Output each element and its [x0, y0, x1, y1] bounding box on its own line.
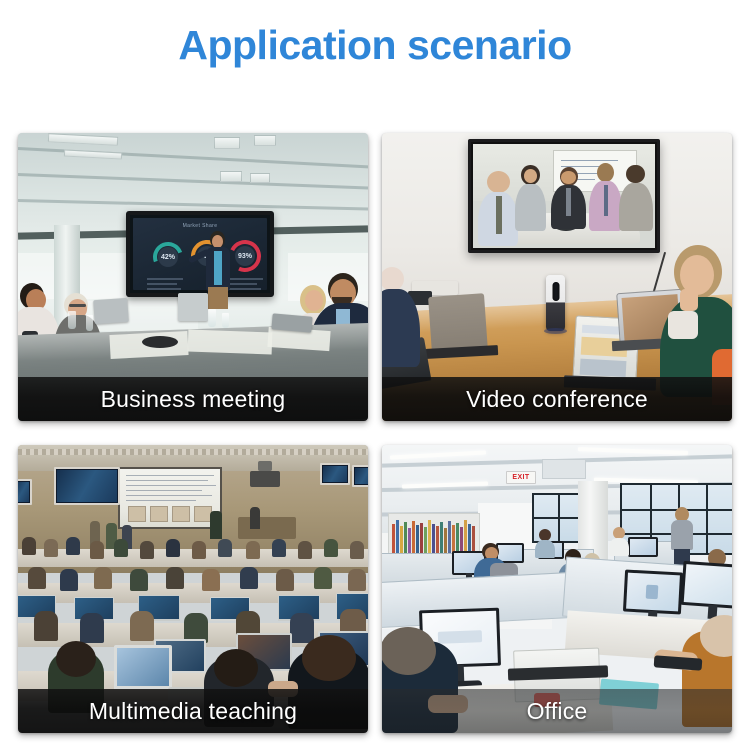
slide-text-line [147, 288, 181, 290]
remote-participant [589, 163, 622, 232]
participant-head [626, 165, 645, 184]
screen-text-line [126, 500, 196, 501]
office-worker [610, 527, 628, 553]
document [188, 330, 273, 355]
water-glass [222, 313, 229, 328]
student-head [56, 641, 96, 677]
panel-caption-multimedia-teaching: Multimedia teaching [18, 689, 368, 733]
book [412, 521, 415, 554]
participant-tie [496, 196, 502, 233]
worker-body [671, 520, 693, 550]
student [140, 541, 154, 559]
participant-sleeve [668, 311, 698, 339]
worker-body [535, 540, 555, 558]
screen-text-line [126, 490, 202, 491]
monitor-content [323, 466, 347, 482]
slide-text-line [229, 288, 261, 290]
book [456, 523, 459, 554]
monitor [681, 561, 732, 609]
caption-text: Video conference [466, 386, 648, 413]
screen-text-line [126, 480, 208, 481]
water-glass [68, 311, 76, 329]
student [246, 541, 260, 559]
student [314, 567, 332, 589]
bookshelf [388, 513, 480, 555]
camera-base [544, 328, 567, 334]
office-worker [536, 529, 554, 555]
screen-text-line [126, 495, 212, 496]
ceiling-light [254, 135, 276, 146]
laptop [178, 293, 208, 321]
participant-body [515, 184, 546, 231]
student-head [302, 635, 356, 681]
monitor [628, 537, 658, 557]
book [440, 522, 443, 554]
scenario-panel-video-conference[interactable]: Video conference [382, 133, 732, 421]
presenter-shirt [214, 251, 222, 285]
ceiling-monitor [18, 479, 32, 505]
instructor [250, 507, 260, 529]
student [218, 539, 232, 557]
lectern [238, 517, 296, 539]
laptop [93, 298, 129, 324]
remote-participant [551, 167, 586, 229]
student [66, 537, 80, 555]
monitor-screen [630, 539, 656, 555]
wall-mounted-tv [468, 139, 660, 253]
student [22, 537, 36, 555]
student [192, 541, 206, 559]
scenario-panel-grid: Market Share 42% 79% 93% [18, 133, 732, 733]
student [298, 541, 312, 559]
ceiling-monitor [54, 467, 120, 505]
student [202, 569, 220, 591]
participant-body [382, 289, 420, 367]
projection-screen [118, 467, 222, 529]
screen-thumbnail [172, 506, 190, 522]
slide-text-line [147, 278, 183, 280]
book [428, 520, 431, 554]
caption-text: Multimedia teaching [89, 698, 297, 725]
participant-hand [680, 289, 698, 311]
metric-value-3: 93% [235, 246, 255, 266]
student [272, 539, 286, 557]
standing-worker [670, 507, 694, 569]
scenario-panel-office[interactable]: EXIT [382, 445, 732, 733]
student [114, 539, 128, 557]
book [444, 528, 447, 554]
worker-body [609, 538, 629, 556]
metric-value-1: 42% [158, 247, 178, 267]
book [424, 527, 427, 554]
tv-screen [473, 144, 655, 248]
book [460, 527, 463, 554]
attendee-glasses [69, 304, 86, 307]
slide-text-line [147, 283, 177, 285]
window-mullion [706, 485, 708, 553]
book [396, 520, 399, 554]
book [392, 524, 395, 554]
screen-text-line [126, 475, 214, 476]
student [130, 611, 154, 641]
student [94, 567, 112, 589]
laptop-screen [117, 648, 169, 686]
ceiling-monitor [352, 465, 368, 487]
student-head [214, 649, 258, 687]
book [420, 523, 423, 554]
student [166, 567, 184, 589]
book [404, 522, 407, 554]
scenario-panel-business-meeting[interactable]: Market Share 42% 79% 93% [18, 133, 368, 421]
laptop-screen-content [580, 359, 627, 377]
caption-text: Office [527, 698, 588, 725]
participant-body [619, 183, 654, 232]
student [240, 567, 258, 589]
book [472, 526, 475, 554]
student [350, 541, 364, 559]
student [60, 569, 78, 591]
screen-content-icon [646, 585, 659, 600]
participant-head [487, 171, 510, 193]
instructor [210, 511, 222, 539]
participant-head [382, 267, 404, 291]
monitor-screen [684, 564, 732, 606]
slide-text-line [229, 278, 263, 280]
participant-tie [566, 188, 570, 215]
student [44, 539, 58, 557]
application-scenario-page: Application scenario [0, 0, 750, 750]
student [324, 539, 338, 557]
keyboard [654, 655, 703, 670]
conference-camera[interactable] [546, 275, 565, 331]
book [468, 524, 471, 554]
laptop [114, 645, 172, 689]
book [432, 524, 435, 554]
student [90, 541, 104, 559]
ceiling-projector [250, 471, 280, 487]
water-glass [86, 315, 93, 331]
monitor [623, 570, 683, 615]
water-glass [208, 309, 216, 327]
book [452, 525, 455, 554]
whiteboard-writing [561, 160, 618, 161]
projector-mount [258, 461, 272, 471]
remote-participant [619, 165, 654, 232]
remote-participant [478, 171, 518, 246]
screen-thumbnail [150, 506, 168, 522]
desk-phone [142, 336, 178, 348]
laptop [271, 313, 312, 332]
foreground-worker-head [382, 627, 436, 675]
monitor-content [18, 482, 29, 502]
panel-caption-office: Office [382, 689, 732, 733]
caption-text: Business meeting [101, 386, 286, 413]
book [400, 526, 403, 554]
student [290, 613, 314, 643]
participant-head [597, 163, 614, 182]
exit-sign-text: EXIT [512, 474, 529, 481]
student [166, 539, 180, 557]
student [348, 569, 366, 591]
ceiling-grid [18, 449, 368, 455]
student [130, 569, 148, 591]
panel-caption-video-conference: Video conference [382, 377, 732, 421]
slide-text-line [229, 283, 257, 285]
participant-tie [604, 185, 608, 217]
slide-title: Market Share [133, 223, 267, 229]
ceiling-light [214, 137, 240, 149]
student [276, 569, 294, 591]
page-title: Application scenario [0, 22, 750, 69]
ceiling-vent [542, 459, 586, 479]
screen-text-line [126, 485, 216, 486]
scenario-panel-multimedia-teaching[interactable]: Multimedia teaching [18, 445, 368, 733]
student [80, 613, 104, 643]
book [464, 520, 467, 554]
ceiling-monitor [320, 463, 350, 485]
panel-caption-business-meeting: Business meeting [18, 377, 368, 421]
screen-content [438, 630, 482, 644]
remote-participant [515, 165, 546, 232]
monitor-content [57, 470, 117, 502]
book [416, 525, 419, 554]
student [28, 567, 46, 589]
screen-thumbnail [128, 506, 146, 522]
participant-left [382, 267, 416, 363]
presenter-skirt [208, 287, 228, 309]
book [408, 528, 411, 554]
book [448, 521, 451, 554]
monitor-content [355, 468, 368, 484]
ceiling-light [250, 173, 270, 183]
book [436, 526, 439, 554]
camera-lens [552, 282, 559, 301]
ceiling-light [220, 171, 242, 182]
exit-sign: EXIT [506, 471, 536, 484]
student [34, 611, 58, 641]
